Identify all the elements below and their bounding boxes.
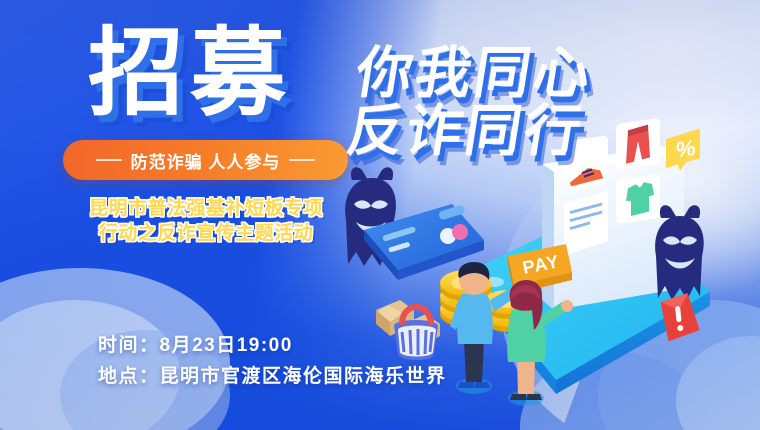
badge-dash-left [96,159,122,161]
product-card-shirt [616,174,660,224]
slogan-line-2: 反诈同行 [343,102,588,160]
headline-block: 招募 [88,28,292,120]
badge-dash-right [289,159,315,161]
subtitle-line-2: 行动之反诈宣传主题活动 [58,221,354,246]
event-place: 地点：昆明市官渡区海伦国际海乐世界 [98,362,447,393]
slogan-block: 你我同心 反诈同行 [343,44,597,160]
discount-tag-label: % [676,135,696,163]
event-time: 时间：8月23日19:00 [98,331,447,362]
poster-canvas: % [0,0,760,430]
subtitle-line-1: 昆明市普法强基补短板专项 [58,196,354,221]
headline-zhaomu: 招募 [88,28,292,120]
subtitle-block: 昆明市普法强基补短板专项 行动之反诈宣传主题活动 [58,196,354,246]
product-card-pants [616,118,660,170]
slogan-badge: 防范诈骗 人人参与 [63,140,348,180]
event-info-block: 时间：8月23日19:00 地点：昆明市官渡区海伦国际海乐世界 [98,331,447,393]
badge-label: 防范诈骗 人人参与 [131,148,281,173]
slogan-line-1: 你我同心 [352,44,597,102]
